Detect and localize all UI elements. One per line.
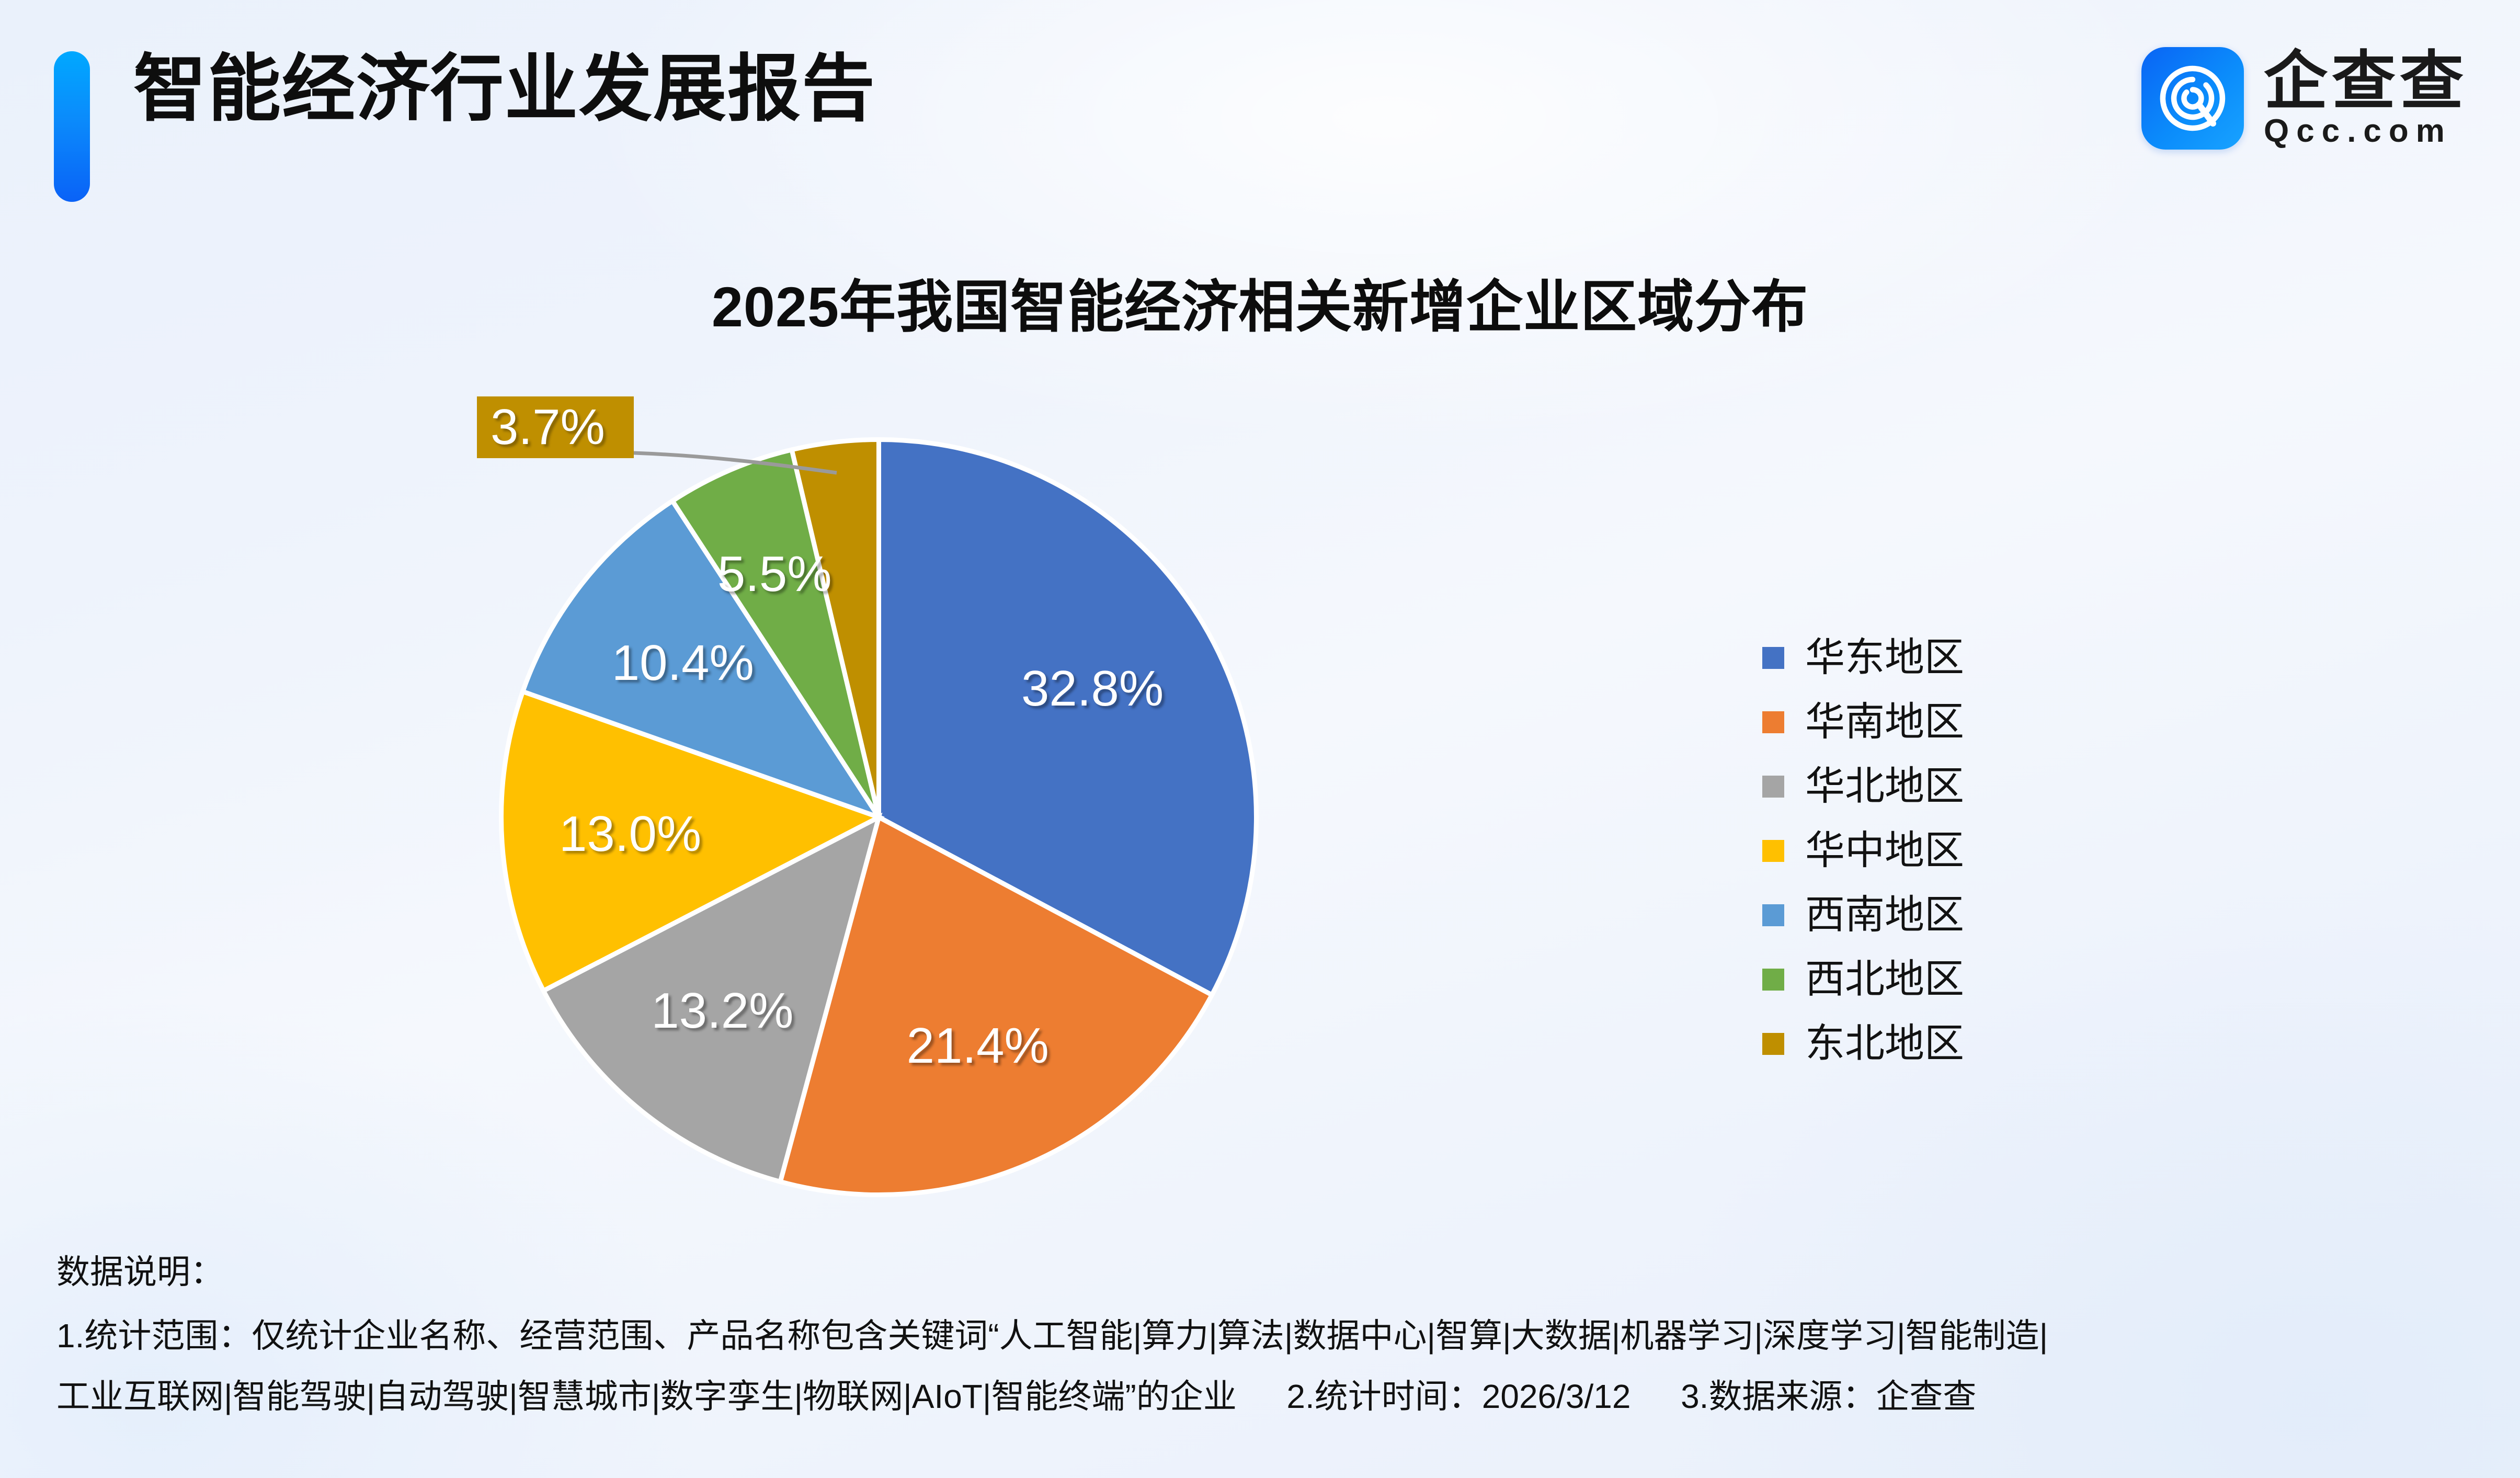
notes-block: 数据说明： 1.统计范围：仅统计企业名称、经营范围、产品名称包含关键词“人工智能… — [56, 1255, 2488, 1440]
legend-label: 东北地区 — [1805, 1024, 1964, 1064]
legend-item[interactable]: 华东地区 — [1762, 638, 1964, 678]
legend-swatch-icon — [1762, 776, 1784, 798]
legend-item[interactable]: 华北地区 — [1762, 767, 1964, 806]
legend-item[interactable]: 华中地区 — [1762, 831, 1964, 871]
page-title: 智能经济行业发展报告 — [133, 52, 876, 126]
legend-swatch-icon — [1762, 904, 1784, 926]
slice-callout-dongbei: 3.7% — [477, 396, 634, 458]
title-accent-bar — [54, 51, 90, 202]
notes-line-2-source: 3.数据来源：企查查 — [1681, 1378, 1976, 1415]
legend-item[interactable]: 西南地区 — [1762, 895, 1964, 935]
legend-item[interactable]: 华南地区 — [1762, 702, 1964, 742]
slice-callout-value: 3.7% — [491, 402, 605, 452]
notes-line-2-scope: 工业互联网|智能驾驶|自动驾驶|智慧城市|数字孪生|物联网|AIoT|智能终端”… — [56, 1378, 1237, 1415]
legend-item[interactable]: 西北地区 — [1762, 960, 1964, 999]
chart-title: 2025年我国智能经济相关新增企业区域分布 — [0, 262, 2520, 343]
notes-line-2-time: 2.统计时间：2026/3/12 — [1286, 1378, 1630, 1415]
legend-label: 华北地区 — [1805, 767, 1964, 806]
notes-heading: 数据说明： — [56, 1255, 2488, 1289]
notes-line-2: 工业互联网|智能驾驶|自动驾驶|智慧城市|数字孪生|物联网|AIoT|智能终端”… — [56, 1380, 2488, 1413]
brand-name-cn: 企查查 — [2264, 49, 2468, 113]
legend-label: 华中地区 — [1805, 831, 1964, 871]
qcc-spiral-q-icon — [2141, 47, 2244, 150]
legend-label: 华东地区 — [1805, 638, 1964, 678]
legend-swatch-icon — [1762, 647, 1784, 669]
brand-logo: 企查查 Qcc.com — [2141, 47, 2468, 150]
legend-label: 西北地区 — [1805, 960, 1964, 999]
legend-swatch-icon — [1762, 1033, 1784, 1055]
legend-label: 西南地区 — [1805, 895, 1964, 935]
legend-label: 华南地区 — [1805, 702, 1964, 742]
legend-swatch-icon — [1762, 969, 1784, 991]
pie-chart: 32.8%21.4%13.2%13.0%10.4%5.5% — [498, 437, 1259, 1198]
legend-swatch-icon — [1762, 711, 1784, 733]
legend-item[interactable]: 东北地区 — [1762, 1024, 1964, 1064]
pie-svg — [498, 437, 1259, 1198]
legend-swatch-icon — [1762, 840, 1784, 862]
brand-name-en: Qcc.com — [2264, 115, 2452, 147]
notes-line-1: 1.统计范围：仅统计企业名称、经营范围、产品名称包含关键词“人工智能|算力|算法… — [56, 1319, 2488, 1352]
chart-legend: 华东地区华南地区华北地区华中地区西南地区西北地区东北地区 — [1762, 638, 1964, 1064]
